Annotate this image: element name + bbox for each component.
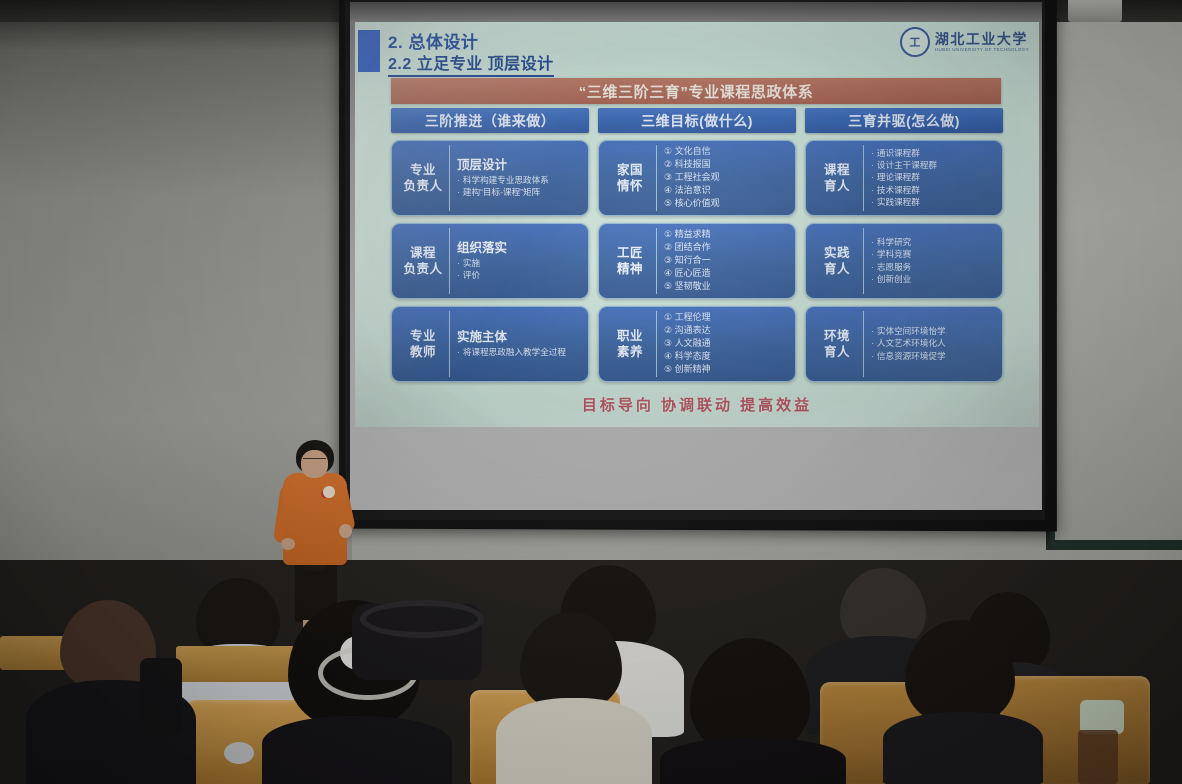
classroom-wall-right [1052, 0, 1182, 540]
slide-banner: “三维三阶三育”专业课程思政体系 [391, 78, 1001, 104]
university-logo: 工 湖北工业大学 HUBEI UNIVERSITY OF TECHNOLOGY [900, 27, 1029, 57]
card-2-2-item-1: ① 精益求精 [664, 229, 790, 241]
card-3-3-bullet-2: ·人文艺术环境化人 [871, 338, 997, 349]
person-torso [262, 716, 452, 784]
card-3-1-bullet-4: ·技术课程群 [871, 185, 997, 196]
bullet-dot-icon: · [871, 197, 874, 208]
university-name-en: HUBEI UNIVERSITY OF TECHNOLOGY [935, 48, 1029, 53]
bullet-dot-icon: · [871, 160, 874, 171]
card-2-3-item-5: ⑤ 创新精神 [664, 364, 790, 376]
card-3-2: 实践育人 ·科学研究 ·学科竞赛 ·志愿服务 ·创新创业 [805, 223, 1003, 299]
column-header-2: 三维目标(做什么) [598, 108, 796, 133]
card-1-2-role: 课程负责人 [397, 228, 450, 294]
card-1-2-bullet-1: ·实施 [457, 258, 583, 269]
card-2-3-role: 职业素养 [604, 311, 657, 377]
card-2-1: 家国情怀 ① 文化自信 ② 科技报国 ③ 工程社会观 ④ 法治意识 ⑤ 核心价值… [598, 140, 796, 216]
card-1-2-bullet-2: ·评价 [457, 270, 583, 281]
card-3-3: 环境育人 ·实体空间环境怡学 ·人文艺术环境化人 ·信息资源环境促学 [805, 306, 1003, 382]
column-three-stage: 三阶推进（谁来做） 专业负责人 顶层设计 ·科学构建专业思政体系 ·建构“目标-… [391, 108, 589, 382]
card-2-2-item-5: ⑤ 坚韧敬业 [664, 281, 790, 293]
card-3-2-bullet-1: ·科学研究 [871, 237, 997, 248]
bullet-dot-icon: · [871, 237, 874, 248]
card-3-3-role: 环境育人 [811, 311, 864, 377]
slide-accent-bar [358, 30, 380, 72]
university-seal-icon: 工 [900, 27, 930, 57]
card-2-1-item-2: ② 科技报国 [664, 159, 790, 171]
card-1-2-title: 组织落实 [457, 241, 583, 257]
card-3-2-bullet-3: ·志愿服务 [871, 262, 997, 273]
person-torso [660, 738, 846, 784]
card-2-2-item-4: ④ 匠心匠造 [664, 268, 790, 280]
card-2-3-item-3: ③ 人文融通 [664, 338, 790, 350]
bullet-dot-icon: · [457, 175, 460, 186]
lecture-hall-photo: 2. 总体设计 2.2 立足专业 顶层设计 工 湖北工业大学 HUBEI UNI… [0, 0, 1182, 784]
card-3-1-bullet-1: ·通识课程群 [871, 148, 997, 159]
card-2-3-item-2: ② 沟通表达 [664, 325, 790, 337]
card-1-2: 课程负责人 组织落实 ·实施 ·评价 [391, 223, 589, 299]
card-2-3-item-4: ④ 科学态度 [664, 351, 790, 363]
card-3-2-bullet-4: ·创新创业 [871, 274, 997, 285]
column-header-3: 三育并驱(怎么做) [805, 108, 1003, 133]
card-1-3-bullet-1: ·将课程思政融入教学全过程 [457, 347, 583, 358]
person-torso [496, 698, 652, 784]
slide-footer-slogan: 目标导向 协调联动 提高效益 [355, 394, 1039, 415]
card-1-1-title: 顶层设计 [457, 158, 583, 174]
water-bottle [140, 658, 182, 736]
bullet-dot-icon: · [871, 249, 874, 260]
computer-mouse [224, 742, 254, 764]
card-2-1-item-5: ⑤ 核心价值观 [664, 198, 790, 210]
column-three-education: 三育并驱(怎么做) 课程育人 ·通识课程群 ·设计主干课程群 ·理论课程群 ·技… [805, 108, 1003, 382]
column-three-dimension: 三维目标(做什么) 家国情怀 ① 文化自信 ② 科技报国 ③ 工程社会观 ④ 法… [598, 108, 796, 382]
column-header-2-label: 三维目标(做什么) [641, 111, 753, 131]
card-3-1-bullet-5: ·实践课程群 [871, 197, 997, 208]
bullet-dot-icon: · [871, 326, 874, 337]
bullet-dot-icon: · [457, 347, 460, 358]
card-2-1-item-3: ③ 工程社会观 [664, 172, 790, 184]
backpack-strap [360, 600, 484, 638]
bullet-dot-icon: · [871, 351, 874, 362]
presenter-left-hand [281, 538, 295, 550]
card-3-3-bullet-3: ·信息资源环境促学 [871, 351, 997, 362]
card-1-3: 专业教师 实施主体 ·将课程思政融入教学全过程 [391, 306, 589, 382]
column-header-3-label: 三育并驱(怎么做) [848, 111, 960, 131]
card-2-2-item-3: ③ 知行合一 [664, 255, 790, 267]
card-1-1-bullet-1: ·科学构建专业思政体系 [457, 175, 583, 186]
card-3-2-bullet-2: ·学科竞赛 [871, 249, 997, 260]
card-1-1-role: 专业负责人 [397, 145, 450, 211]
slide-subsection-title: 2.2 立足专业 顶层设计 [388, 50, 554, 77]
slide-columns: 三阶推进（谁来做） 专业负责人 顶层设计 ·科学构建专业思政体系 ·建构“目标-… [391, 108, 1003, 382]
card-1-3-title: 实施主体 [457, 330, 583, 346]
column-header-1-label: 三阶推进（谁来做） [425, 111, 556, 131]
card-3-3-bullet-1: ·实体空间环境怡学 [871, 326, 997, 337]
presentation-slide: 2. 总体设计 2.2 立足专业 顶层设计 工 湖北工业大学 HUBEI UNI… [355, 22, 1039, 427]
card-2-1-item-1: ① 文化自信 [664, 146, 790, 158]
card-2-3-item-1: ① 工程伦理 [664, 312, 790, 324]
card-2-3: 职业素养 ① 工程伦理 ② 沟通表达 ③ 人文融通 ④ 科学态度 ⑤ 创新精神 [598, 306, 796, 382]
bullet-dot-icon: · [871, 148, 874, 159]
presenter-glasses-icon [303, 458, 326, 465]
bullet-dot-icon: · [457, 270, 460, 281]
bullet-dot-icon: · [871, 172, 874, 183]
bullet-dot-icon: · [457, 258, 460, 269]
bottle-body [1078, 730, 1118, 784]
slide-banner-title: “三维三阶三育”专业课程思政体系 [579, 81, 814, 102]
card-2-1-role: 家国情怀 [604, 145, 657, 211]
card-3-1: 课程育人 ·通识课程群 ·设计主干课程群 ·理论课程群 ·技术课程群 ·实践课程… [805, 140, 1003, 216]
presenter-brooch-icon [323, 486, 335, 498]
university-name-cn: 湖北工业大学 [935, 32, 1029, 46]
card-2-2: 工匠精神 ① 精益求精 ② 团结合作 ③ 知行合一 ④ 匠心匠造 ⑤ 坚韧敬业 [598, 223, 796, 299]
card-3-1-bullet-3: ·理论课程群 [871, 172, 997, 183]
card-2-2-item-2: ② 团结合作 [664, 242, 790, 254]
card-1-1-bullet-2: ·建构“目标-课程”矩阵 [457, 187, 583, 198]
bullet-dot-icon: · [457, 187, 460, 198]
green-cup [1080, 700, 1124, 734]
projector-mount [1068, 0, 1122, 22]
bullet-dot-icon: · [871, 262, 874, 273]
card-2-2-role: 工匠精神 [604, 228, 657, 294]
bullet-dot-icon: · [871, 338, 874, 349]
card-2-1-item-4: ④ 法治意识 [664, 185, 790, 197]
card-3-1-bullet-2: ·设计主干课程群 [871, 160, 997, 171]
bullet-dot-icon: · [871, 185, 874, 196]
column-header-1: 三阶推进（谁来做） [391, 108, 589, 133]
bullet-dot-icon: · [871, 274, 874, 285]
card-1-1: 专业负责人 顶层设计 ·科学构建专业思政体系 ·建构“目标-课程”矩阵 [391, 140, 589, 216]
card-1-3-role: 专业教师 [397, 311, 450, 377]
presenter-right-hand [339, 524, 352, 538]
card-3-1-role: 课程育人 [811, 145, 864, 211]
card-3-2-role: 实践育人 [811, 228, 864, 294]
presenter-jacket [283, 473, 347, 565]
person-torso [883, 712, 1043, 784]
